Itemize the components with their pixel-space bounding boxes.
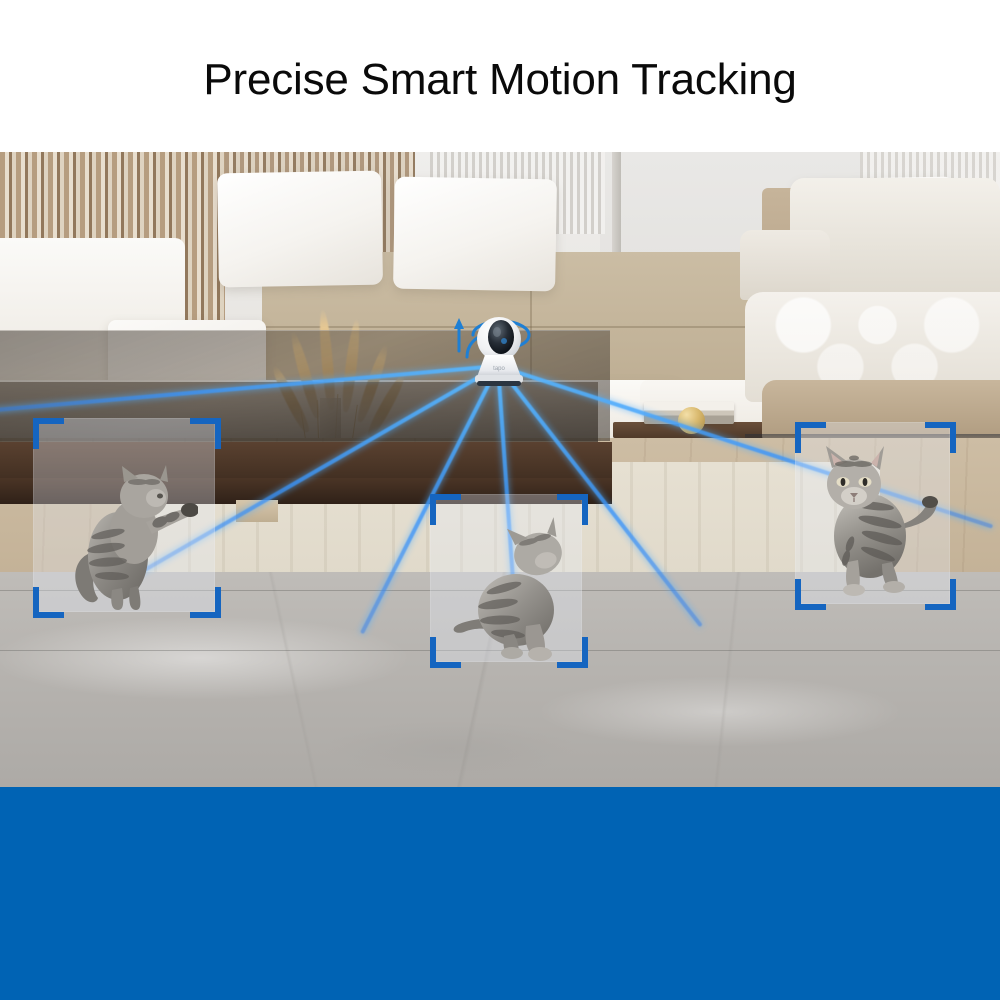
footer-banner: When motion activity is detected, tracks…	[0, 787, 1000, 1000]
tracking-bracket-corner	[925, 422, 956, 453]
sofa-pillow	[217, 171, 383, 288]
scene-photo: tapo	[0, 152, 1000, 787]
sofa-pillow	[393, 177, 557, 292]
tracking-bracket-corner	[33, 587, 64, 618]
tracking-bracket-corner	[925, 579, 956, 610]
tracking-bracket-corner	[557, 494, 588, 525]
cat-walking-right	[808, 444, 940, 596]
tracking-bracket-corner	[430, 494, 461, 525]
tracking-bracket-corner	[795, 579, 826, 610]
tilt-arrow-head-up	[454, 318, 464, 329]
tracking-bracket-corner	[190, 587, 221, 618]
tracking-bracket-corner	[190, 418, 221, 449]
tapo-pan-tilt-camera: tapo	[463, 307, 537, 379]
gold-sphere-decor	[678, 407, 705, 434]
promo-page: Precise Smart Motion Tracking	[0, 0, 1000, 1000]
sofa-right-armrest	[740, 230, 830, 300]
coffee-table-leg	[236, 500, 278, 522]
tracking-bracket-corner	[795, 422, 826, 453]
page-title: Precise Smart Motion Tracking	[203, 58, 796, 102]
tracking-bracket-corner	[430, 637, 461, 668]
tracking-bracket-corner	[557, 637, 588, 668]
header-band: Precise Smart Motion Tracking	[0, 0, 1000, 152]
tracking-bracket-corner	[33, 418, 64, 449]
svg-text:tapo: tapo	[493, 366, 505, 372]
cat-standing-left	[68, 460, 198, 612]
